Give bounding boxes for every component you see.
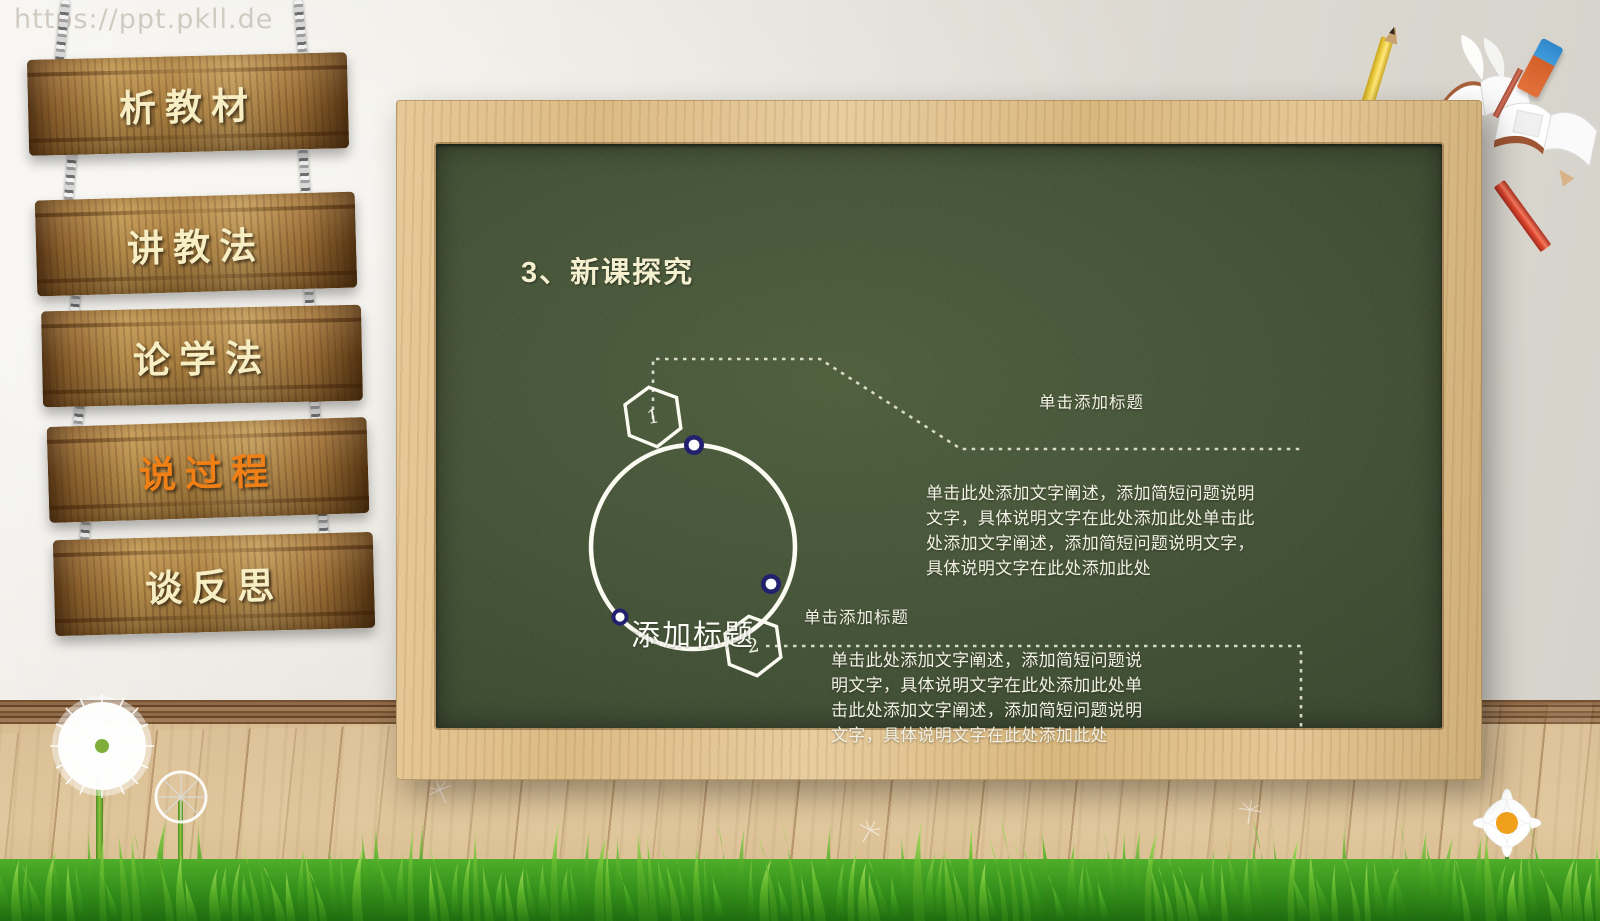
- block-2-line-3: 击此处添加文字阐述，添加简短问题说明: [831, 698, 1261, 723]
- block-1-line-4: 具体说明文字在此处添加此处: [926, 556, 1396, 581]
- block-2-body: 单击此处添加文字阐述，添加简短问题说 明文字，具体说明文字在此处添加此处单 击此…: [831, 648, 1261, 748]
- grass-strip: [0, 813, 1600, 921]
- block-1-heading: 单击添加标题: [1039, 389, 1144, 413]
- sidebar-item-3[interactable]: 论学法: [41, 305, 363, 408]
- sidebar-item-3-label: 论学法: [132, 328, 271, 385]
- sidebar-item-4-label: 说过程: [138, 441, 278, 499]
- block-2-line-2: 明文字，具体说明文字在此处添加此处单: [831, 673, 1261, 698]
- sidebar-item-2-label: 讲教法: [126, 215, 265, 273]
- blackboard: 3、新课探究: [396, 100, 1482, 780]
- block-2-line-1: 单击此处添加文字阐述，添加简短问题说: [831, 648, 1261, 673]
- blackboard-surface: 3、新课探究: [436, 144, 1442, 728]
- sidebar-item-4[interactable]: 说过程: [47, 417, 370, 523]
- sidebar-item-1[interactable]: 析教材: [27, 52, 349, 156]
- grass-blades: [0, 813, 1600, 921]
- circle-center-label: 添加标题: [578, 612, 808, 654]
- block-1-line-2: 文字，具体说明文字在此处添加此处单击此: [926, 506, 1396, 531]
- watermark-text: https://ppt.pkll.de: [14, 4, 273, 35]
- connector-line-1: [653, 359, 1301, 449]
- block-1-body: 单击此处添加文字阐述，添加简短问题说明 文字，具体说明文字在此处添加此处单击此 …: [926, 481, 1396, 581]
- dandelion-large-icon: [44, 688, 160, 804]
- sidebar-item-2[interactable]: 讲教法: [35, 192, 358, 297]
- sidebar-item-1-label: 析教材: [118, 75, 257, 132]
- block-2-line-4: 文字，具体说明文字在此处添加此处: [831, 723, 1261, 748]
- sidebar-item-5-label: 谈反思: [144, 555, 283, 613]
- sidebar-item-5[interactable]: 谈反思: [53, 532, 375, 636]
- block-1-line-1: 单击此处添加文字阐述，添加简短问题说明: [926, 481, 1396, 506]
- block-1-line-3: 处添加文字阐述，添加简短问题说明文字，: [926, 531, 1396, 556]
- block-2-heading: 单击添加标题: [804, 604, 909, 628]
- slide-canvas: https://ppt.pkll.de: [0, 0, 1600, 921]
